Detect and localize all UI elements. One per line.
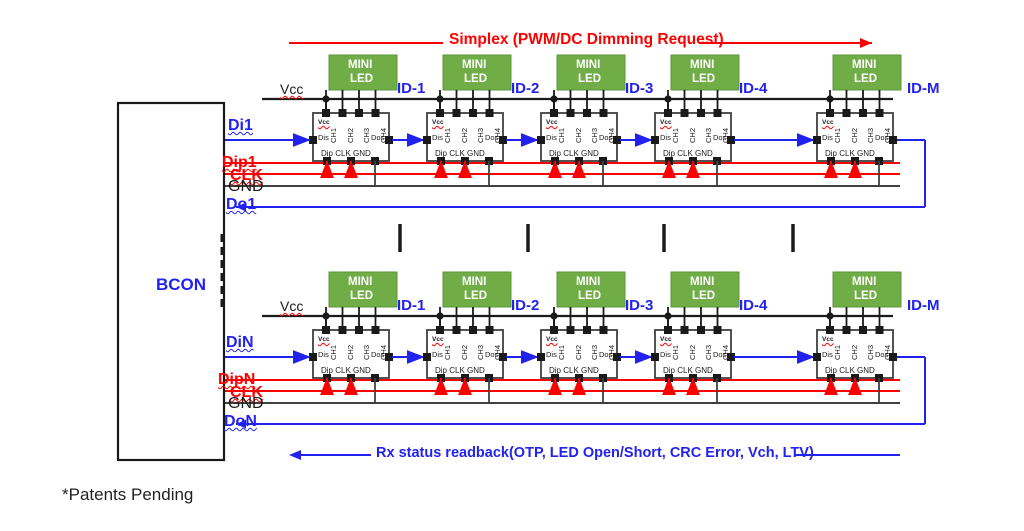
chip-pin-ch4 (600, 326, 608, 334)
pin-text-vcc: Vcc (318, 120, 330, 127)
pin-text-ch2: CH2 (851, 128, 859, 143)
id-label: ID-2 (511, 298, 539, 313)
pin-text-dis: Dis (822, 351, 833, 359)
mini-led-line1: MINI (576, 277, 600, 289)
pin-text-dis: Dis (318, 351, 329, 359)
chip-pin-ch2 (339, 326, 347, 334)
chip-pin-ch4 (876, 326, 884, 334)
mini-led-line2: LED (692, 291, 715, 303)
vcc-junction-dot (550, 312, 557, 319)
mini-led-line1: MINI (690, 277, 714, 289)
port-don: DoN (224, 414, 257, 430)
mini-led-line1: MINI (690, 60, 714, 72)
mini-led-line2: LED (350, 74, 373, 86)
port-din: DiN (226, 335, 254, 351)
chip-pin-dis (537, 136, 545, 144)
pin-text-ch3: CH3 (477, 345, 485, 360)
pin-text-bottom: Dip CLK GND (825, 367, 875, 375)
pin-text-bottom: Dip CLK GND (549, 150, 599, 158)
mini-led-line2: LED (854, 291, 877, 303)
patents-pending-note: *Patents Pending (62, 486, 193, 503)
vcc-junction-dot (826, 95, 833, 102)
pin-text-bottom: Dip CLK GND (663, 150, 713, 158)
id-label: ID-2 (511, 81, 539, 96)
pin-text-ch4: CH4 (494, 345, 502, 360)
chip-pin-ch3 (859, 109, 867, 117)
pin-text-ch1: CH1 (558, 128, 566, 143)
pin-text-ch1: CH1 (834, 128, 842, 143)
pin-text-dis: Dis (660, 351, 671, 359)
id-label: ID-4 (739, 81, 767, 96)
id-label: ID-4 (739, 298, 767, 313)
chip-pin-dis (309, 353, 317, 361)
id-label: ID-1 (397, 298, 425, 313)
pin-text-ch2: CH2 (575, 128, 583, 143)
mini-led-line2: LED (464, 74, 487, 86)
pin-text-vcc: Vcc (660, 337, 672, 344)
pin-text-ch1: CH1 (444, 128, 452, 143)
pin-text-ch1: CH1 (672, 128, 680, 143)
pin-text-bottom: Dip CLK GND (663, 367, 713, 375)
chip-pin-ch4 (714, 109, 722, 117)
pin-text-ch3: CH3 (363, 128, 371, 143)
pin-text-ch3: CH3 (705, 345, 713, 360)
chip-pin-dis (651, 353, 659, 361)
vcc-label: Vcc (280, 299, 303, 313)
pin-text-bottom: Dip CLK GND (825, 150, 875, 158)
pin-text-dis: Dis (432, 351, 443, 359)
vcc-junction-dot (550, 95, 557, 102)
port-gnd-bottom: GND (228, 396, 264, 412)
chip-pin-ch3 (355, 109, 363, 117)
mini-led-line1: MINI (576, 60, 600, 72)
port-gnd-top: GND (228, 179, 264, 195)
mini-led-line2: LED (350, 291, 373, 303)
chip-pin-ch3 (355, 326, 363, 334)
mini-led-line2: LED (578, 291, 601, 303)
chip-pin-ch3 (583, 109, 591, 117)
bcon-label: BCON (156, 276, 206, 293)
pin-text-vcc: Vcc (318, 337, 330, 344)
id-label: ID-M (907, 298, 940, 313)
readback-arrow-head (289, 450, 301, 460)
chip-pin-dis (309, 136, 317, 144)
mini-led-line2: LED (854, 74, 877, 86)
vcc-junction-dot (664, 95, 671, 102)
pin-text-ch4: CH4 (722, 128, 730, 143)
pin-text-dis: Dis (432, 134, 443, 142)
pin-text-dis: Dis (822, 134, 833, 142)
pin-text-vcc: Vcc (432, 120, 444, 127)
chip-pin-ch3 (469, 109, 477, 117)
mini-led-line1: MINI (348, 277, 372, 289)
vcc-label: Vcc (280, 82, 303, 96)
pin-text-ch2: CH2 (347, 345, 355, 360)
pin-text-bottom: Dip CLK GND (549, 367, 599, 375)
pin-text-ch2: CH2 (689, 345, 697, 360)
chip-pin-ch2 (843, 109, 851, 117)
readback-title: Rx status readback(OTP, LED Open/Short, … (376, 446, 814, 461)
vcc-junction-dot (322, 312, 329, 319)
pin-text-bottom: Dip CLK GND (321, 150, 371, 158)
pin-text-bottom: Dip CLK GND (435, 367, 485, 375)
chip-pin-ch2 (567, 109, 575, 117)
port-do1: Do1 (226, 197, 256, 213)
pin-text-dis: Dis (660, 134, 671, 142)
pin-text-dis: Dis (546, 351, 557, 359)
chip-pin-ch4 (486, 326, 494, 334)
vcc-junction-dot (436, 312, 443, 319)
vcc-junction-dot (664, 312, 671, 319)
pin-text-bottom: Dip CLK GND (321, 367, 371, 375)
chip-pin-ch2 (453, 109, 461, 117)
chip-pin-ch4 (876, 109, 884, 117)
pin-text-vcc: Vcc (432, 337, 444, 344)
pin-text-dis: Dis (546, 134, 557, 142)
chip-pin-ch3 (859, 326, 867, 334)
id-label: ID-3 (625, 298, 653, 313)
pin-text-vcc: Vcc (546, 337, 558, 344)
pin-text-vcc: Vcc (546, 120, 558, 127)
pin-text-ch3: CH3 (867, 128, 875, 143)
pin-text-ch4: CH4 (722, 345, 730, 360)
chip-pin-ch3 (583, 326, 591, 334)
chip-pin-dis (423, 353, 431, 361)
pin-text-bottom: Dip CLK GND (435, 150, 485, 158)
chip-pin-ch2 (681, 326, 689, 334)
pin-text-ch2: CH2 (851, 345, 859, 360)
mini-led-line1: MINI (852, 60, 876, 72)
pin-text-ch1: CH1 (834, 345, 842, 360)
id-label: ID-M (907, 81, 940, 96)
pin-text-ch3: CH3 (591, 345, 599, 360)
mini-led-line1: MINI (852, 277, 876, 289)
pin-text-ch4: CH4 (380, 345, 388, 360)
id-label: ID-3 (625, 81, 653, 96)
vcc-junction-dot (436, 95, 443, 102)
pin-text-vcc: Vcc (822, 337, 834, 344)
chip-pin-ch3 (697, 109, 705, 117)
pin-text-ch1: CH1 (558, 345, 566, 360)
mini-led-line2: LED (578, 74, 601, 86)
chip-pin-ch3 (469, 326, 477, 334)
pin-text-ch3: CH3 (867, 345, 875, 360)
chip-pin-ch4 (372, 326, 380, 334)
diagram-canvas: VccMINILEDID-1VccDisDosDip CLK GNDCH1CH2… (0, 0, 1024, 531)
pin-text-ch3: CH3 (477, 128, 485, 143)
mini-led-line1: MINI (462, 60, 486, 72)
chip-pin-dis (813, 353, 821, 361)
vcc-junction-dot (322, 95, 329, 102)
pin-text-dis: Dis (318, 134, 329, 142)
mini-led-line1: MINI (462, 277, 486, 289)
pin-text-ch2: CH2 (461, 345, 469, 360)
pin-text-ch1: CH1 (330, 128, 338, 143)
pin-text-ch2: CH2 (461, 128, 469, 143)
pin-text-ch3: CH3 (591, 128, 599, 143)
pin-text-ch3: CH3 (705, 128, 713, 143)
id-label: ID-1 (397, 81, 425, 96)
pin-text-ch2: CH2 (347, 128, 355, 143)
port-di1: Di1 (228, 118, 253, 134)
pin-text-vcc: Vcc (660, 120, 672, 127)
pin-text-ch1: CH1 (330, 345, 338, 360)
pin-text-ch1: CH1 (672, 345, 680, 360)
pin-text-ch3: CH3 (363, 345, 371, 360)
simplex-arrow-head (860, 38, 872, 48)
chip-pin-ch3 (697, 326, 705, 334)
pin-text-ch4: CH4 (884, 128, 892, 143)
chip-pin-dis (813, 136, 821, 144)
mini-led-line2: LED (692, 74, 715, 86)
pin-text-ch4: CH4 (494, 128, 502, 143)
pin-text-ch2: CH2 (575, 345, 583, 360)
chip-pin-ch4 (714, 326, 722, 334)
chip-pin-dis (537, 353, 545, 361)
chip-pin-ch4 (600, 109, 608, 117)
chip-pin-dis (423, 136, 431, 144)
chip-pin-ch4 (486, 109, 494, 117)
mini-led-line1: MINI (348, 60, 372, 72)
mini-led-line2: LED (464, 291, 487, 303)
vcc-junction-dot (826, 312, 833, 319)
chip-pin-ch4 (372, 109, 380, 117)
simplex-title: Simplex (PWM/DC Dimming Request) (449, 32, 724, 48)
pin-text-ch4: CH4 (884, 345, 892, 360)
chip-pin-ch2 (681, 109, 689, 117)
pin-text-ch1: CH1 (444, 345, 452, 360)
pin-text-vcc: Vcc (822, 120, 834, 127)
chip-pin-ch2 (843, 326, 851, 334)
pin-text-ch4: CH4 (608, 345, 616, 360)
pin-text-ch4: CH4 (380, 128, 388, 143)
pin-text-ch2: CH2 (689, 128, 697, 143)
chip-pin-ch2 (339, 109, 347, 117)
pin-text-ch4: CH4 (608, 128, 616, 143)
chip-pin-ch2 (567, 326, 575, 334)
chip-pin-dis (651, 136, 659, 144)
chip-pin-ch2 (453, 326, 461, 334)
